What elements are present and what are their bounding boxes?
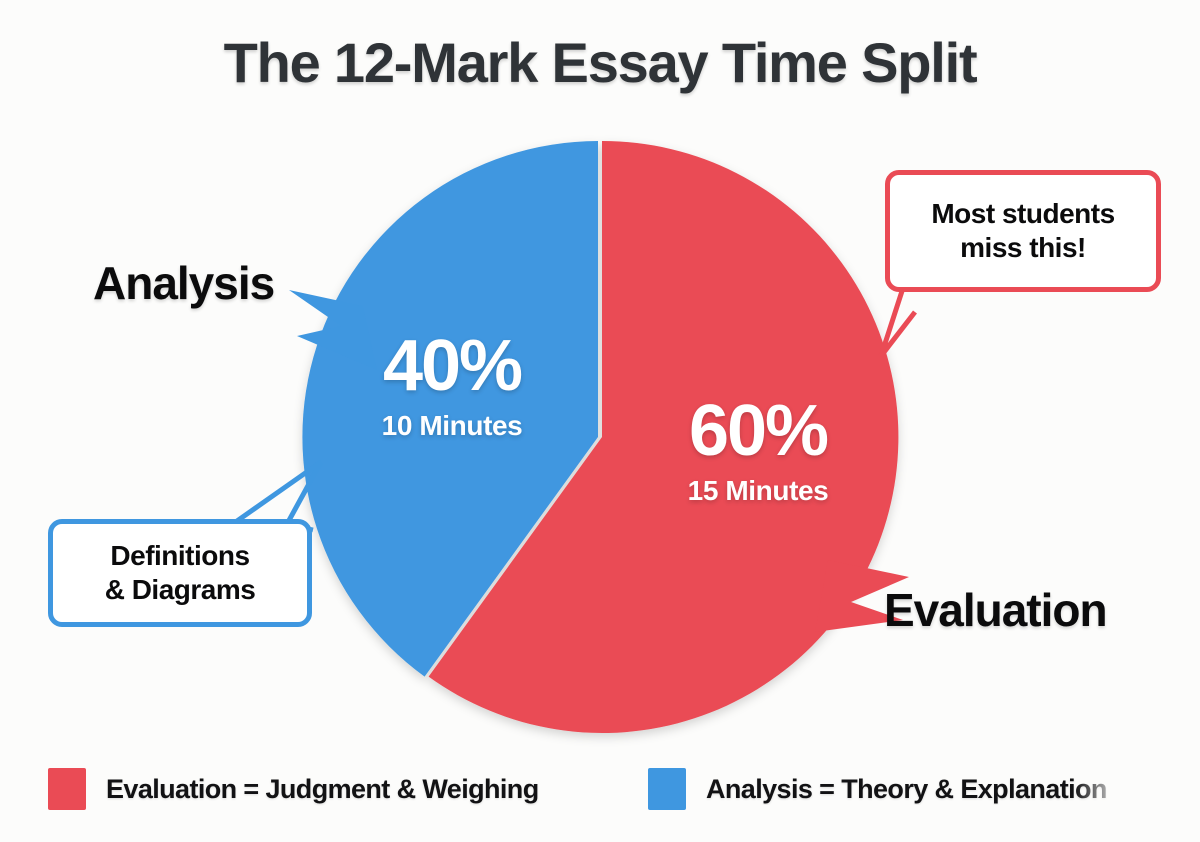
legend-label-evaluation: Evaluation = Judgment & Weighing (106, 774, 539, 805)
legend-swatch-evaluation (48, 768, 86, 810)
blue-callout-text: Definitions & Diagrams (105, 539, 256, 607)
red-callout-tail-icon (855, 282, 985, 368)
chart-legend: Evaluation = Judgment & Weighing Analysi… (0, 762, 1200, 820)
legend-item-analysis[interactable]: Analysis = Theory & Explanation (648, 766, 1107, 812)
pie-chart: 40% 10 Minutes 60% 15 Minutes (303, 140, 897, 734)
blue-callout-line-2: & Diagrams (105, 574, 256, 605)
category-label-evaluation: Evaluation (884, 583, 1107, 637)
callout-most-students-miss-this[interactable]: Most students miss this! (885, 170, 1161, 292)
page-title: The 12-Mark Essay Time Split (0, 30, 1200, 95)
red-callout-line-1: Most students (931, 198, 1114, 229)
blue-callout-line-1: Definitions (110, 540, 249, 571)
infographic-canvas: The 12-Mark Essay Time Split 40% 10 M (0, 0, 1200, 842)
callout-definitions-and-diagrams[interactable]: Definitions & Diagrams (48, 519, 312, 627)
legend-item-evaluation[interactable]: Evaluation = Judgment & Weighing (48, 766, 539, 812)
legend-label-analysis: Analysis = Theory & Explanation (706, 774, 1107, 805)
red-callout-line-2: miss this! (960, 232, 1086, 263)
category-label-analysis: Analysis (93, 256, 274, 310)
pie-chart-svg (303, 140, 897, 734)
legend-swatch-analysis (648, 768, 686, 810)
red-callout-text: Most students miss this! (931, 197, 1114, 265)
